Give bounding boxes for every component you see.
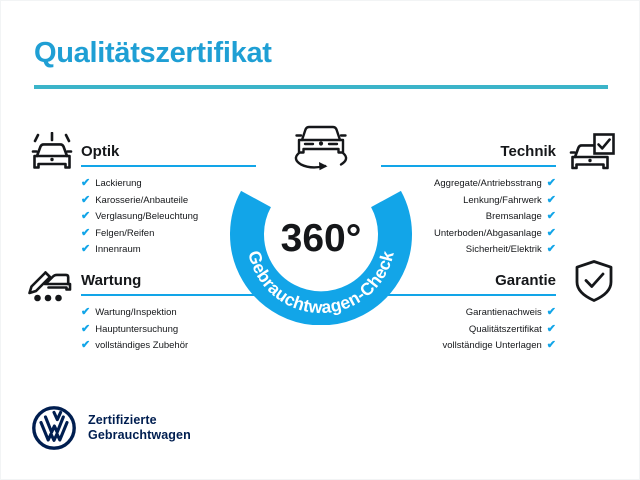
- check-icon: ✔: [547, 340, 556, 351]
- check-icon: ✔: [81, 195, 90, 206]
- list-item-label: Sicherheit/Elektrik: [466, 242, 542, 258]
- list-item: vollständige Unterlagen✔: [381, 338, 556, 354]
- title-divider: [34, 85, 608, 89]
- pen-car-icon: [25, 259, 75, 303]
- vw-logo: [32, 406, 76, 450]
- list-item-label: Wartung/Inspektion: [95, 305, 177, 321]
- certificate-page: Qualitätszertifikat Optik ✔Lackierung: [0, 0, 640, 480]
- list-item-label: Bremsanlage: [486, 209, 542, 225]
- list-item-label: Lackierung: [95, 176, 141, 192]
- car-checkbox-icon: [566, 132, 616, 174]
- check-icon: ✔: [547, 195, 556, 206]
- vw-footer: Zertifizierte Gebrauchtwagen: [32, 406, 191, 450]
- list-item-label: Hauptuntersuchung: [95, 322, 178, 338]
- list-item-label: vollständiges Zubehör: [95, 338, 188, 354]
- list-item-label: Unterboden/Abgasanlage: [434, 226, 542, 242]
- list-item-label: Qualitätszertifikat: [469, 322, 542, 338]
- check-icon: ✔: [81, 211, 90, 222]
- check-icon: ✔: [547, 211, 556, 222]
- page-title: Qualitätszertifikat: [34, 37, 272, 70]
- badge-360-check: 360° Gebrauchtwagen-Check: [225, 153, 417, 325]
- list-item-label: Aggregate/Antriebsstrang: [434, 176, 542, 192]
- list-item-label: Verglasung/Beleuchtung: [95, 209, 198, 225]
- check-icon: ✔: [81, 340, 90, 351]
- check-icon: ✔: [547, 324, 556, 335]
- list-item-label: Karosserie/Anbauteile: [95, 193, 188, 209]
- check-icon: ✔: [81, 324, 90, 335]
- check-icon: ✔: [547, 244, 556, 255]
- shield-check-icon: [573, 259, 615, 303]
- list-item-label: Lenkung/Fahrwerk: [463, 193, 542, 209]
- vw-footer-line1: Zertifizierte: [88, 413, 191, 428]
- list-item-label: vollständige Unterlagen: [442, 338, 541, 354]
- check-icon: ✔: [81, 228, 90, 239]
- check-icon: ✔: [81, 307, 90, 318]
- list-item-label: Innenraum: [95, 242, 140, 258]
- car-shine-icon: [27, 132, 77, 174]
- list-item-label: Felgen/Reifen: [95, 226, 154, 242]
- check-icon: ✔: [81, 178, 90, 189]
- badge-center-text: 360°: [281, 217, 362, 260]
- check-icon: ✔: [547, 228, 556, 239]
- list-item: ✔vollständiges Zubehör: [81, 338, 256, 354]
- check-icon: ✔: [81, 244, 90, 255]
- vw-footer-text: Zertifizierte Gebrauchtwagen: [88, 413, 191, 443]
- vw-footer-line2: Gebrauchtwagen: [88, 428, 191, 443]
- check-icon: ✔: [547, 307, 556, 318]
- list-item-label: Garantienachweis: [466, 305, 542, 321]
- check-icon: ✔: [547, 178, 556, 189]
